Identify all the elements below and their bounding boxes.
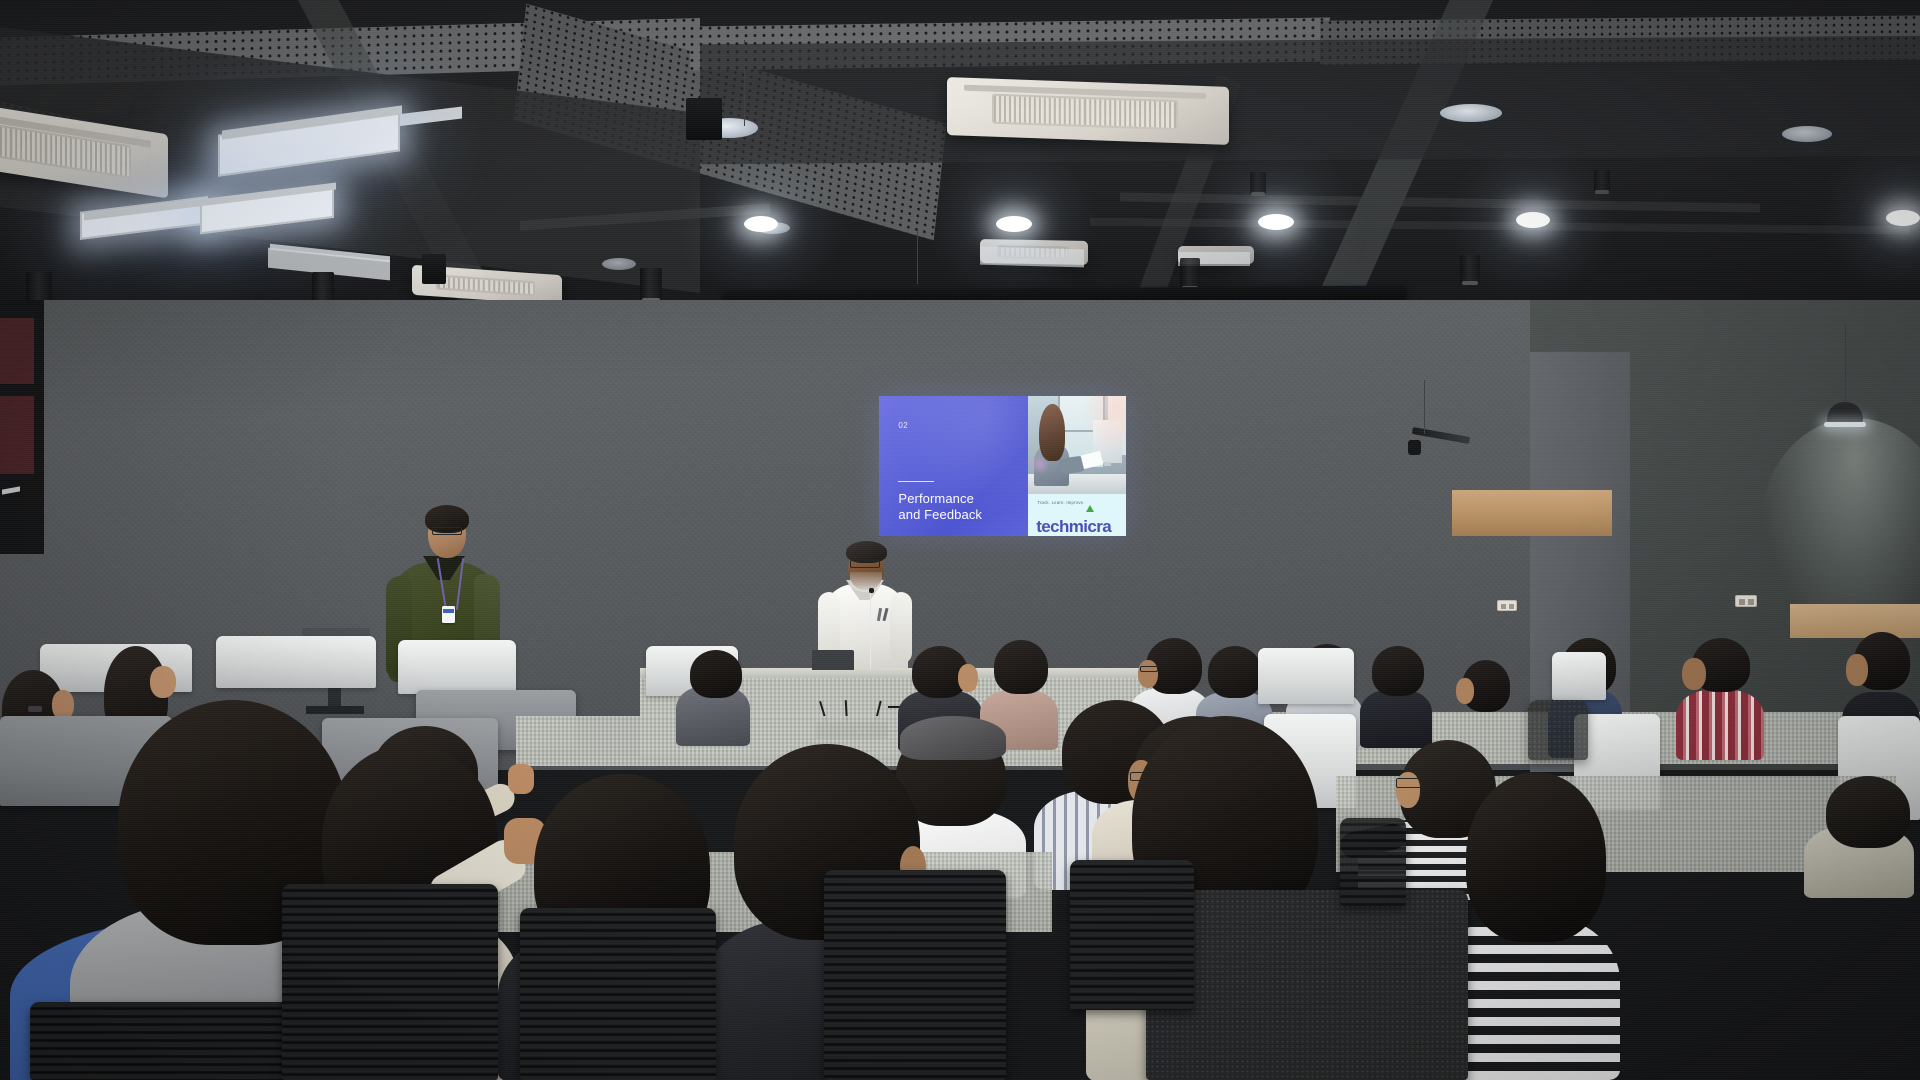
red-wall-panel: [0, 318, 34, 384]
audience-hair: [1208, 646, 1262, 698]
pendant-cylinder: [1460, 255, 1480, 283]
office-chair: [1528, 700, 1588, 760]
audience-face: [150, 666, 176, 698]
slide-photo: [1028, 396, 1126, 494]
presenter-beard: [850, 572, 882, 592]
slide-section-number: 02: [898, 421, 908, 430]
pendant-cylinder: [640, 268, 662, 300]
wall-mount-cable: [1424, 380, 1425, 434]
office-chair: [520, 908, 716, 1080]
lectern-base: [306, 706, 364, 714]
audience-hair: [690, 650, 742, 698]
photo-warm-light: [1082, 396, 1126, 455]
presenter-glasses-icon: [850, 560, 880, 568]
audience-face: [1682, 658, 1706, 690]
cable-tray: [1090, 218, 1910, 235]
wall-mount-camera: [1408, 440, 1421, 455]
slide-title: Performance and Feedback: [898, 491, 982, 522]
track-spotlight: [1516, 212, 1550, 228]
ac-grill: [992, 94, 1178, 131]
pendant-lamp-cord: [1845, 324, 1846, 406]
audience-cap: [900, 716, 1006, 760]
socket-slot: [1501, 604, 1506, 609]
wall-speaker: [422, 254, 446, 284]
cubicle-divider: [398, 640, 516, 694]
office-chair: [1340, 818, 1406, 906]
pendant-wire: [744, 40, 745, 126]
office-chair: [824, 870, 1006, 1080]
audience-hair: [1826, 776, 1910, 848]
track-spotlight: [1258, 214, 1294, 230]
audience-body: [1676, 690, 1764, 760]
track-spotlight: [744, 216, 778, 232]
audience-hair: [994, 640, 1048, 694]
pendant-cylinder: [1180, 258, 1200, 288]
wall-socket: [1735, 595, 1757, 607]
audience-face: [958, 664, 978, 692]
wood-counter: [1452, 490, 1612, 536]
recessed-downlight: [602, 258, 636, 270]
track-spotlight: [996, 216, 1032, 232]
brand-logo-triangle-icon: [1086, 505, 1094, 512]
office-chair: [1146, 890, 1468, 1080]
brand-logo: techmicra: [1036, 518, 1111, 535]
ceiling: [0, 0, 1920, 330]
pendant-cylinder: [1250, 172, 1266, 194]
audience-glasses-icon: [1396, 778, 1422, 788]
audience-hair: [1466, 772, 1606, 942]
soundbar-wire: [917, 230, 918, 292]
hair-clip: [28, 706, 42, 712]
recessed-downlight: [1440, 104, 1502, 122]
recessed-downlight: [1782, 126, 1832, 142]
ceiling-soffit: [700, 36, 1920, 165]
projection-screen[interactable]: 02 Performance and Feedback Track. Learn…: [879, 396, 1126, 536]
slide-right-panel: Track. Learn. Improve. techmicra: [1028, 396, 1126, 536]
presenter-glasses-icon: [432, 527, 462, 535]
audience-glasses-icon: [1140, 666, 1158, 672]
track-spotlight: [1886, 210, 1920, 226]
office-chair: [282, 884, 498, 1080]
photo-lens-flare: [1030, 455, 1050, 475]
soundbar-bracket: [912, 284, 920, 296]
slide-tagline: Track. Learn. Improve.: [1037, 500, 1084, 505]
socket-slot: [1739, 599, 1745, 605]
audience-hand: [508, 764, 534, 794]
office-chair: [1070, 860, 1194, 1010]
socket-slot: [1748, 599, 1754, 605]
audience-face: [1138, 660, 1158, 688]
slide-divider-rule: [898, 481, 934, 482]
cable-tray: [1120, 192, 1760, 212]
cubicle-divider: [216, 636, 376, 688]
ac-grill: [436, 274, 535, 297]
cubicle-divider: [1258, 648, 1354, 704]
laptop[interactable]: [812, 650, 854, 670]
ac-cassette-unit: [947, 77, 1229, 145]
socket-slot: [1509, 604, 1514, 609]
audience-body: [1360, 690, 1432, 748]
pendant-cylinder: [1594, 170, 1610, 192]
wall-socket: [1497, 600, 1517, 611]
slide-brand-footer: Track. Learn. Improve. techmicra: [1028, 494, 1126, 536]
wall-speaker: [686, 98, 722, 140]
presenter-arm: [890, 592, 912, 664]
wood-counter: [1790, 604, 1920, 638]
led-panel-light-off: [980, 247, 1084, 268]
presenter-badge[interactable]: [442, 606, 455, 623]
slide-left-panel: 02 Performance and Feedback: [879, 396, 1028, 536]
audience-face: [1456, 678, 1474, 704]
red-wall-panel: [0, 396, 34, 474]
lectern-top: [302, 628, 370, 636]
audience-hair: [1372, 646, 1424, 696]
conference-room-scene: 02 Performance and Feedback Track. Learn…: [0, 0, 1920, 1080]
photo-person-hair: [1039, 404, 1064, 461]
badge-stripe: [443, 609, 454, 613]
cubicle-divider: [1552, 652, 1606, 700]
audience-face: [1846, 654, 1868, 686]
